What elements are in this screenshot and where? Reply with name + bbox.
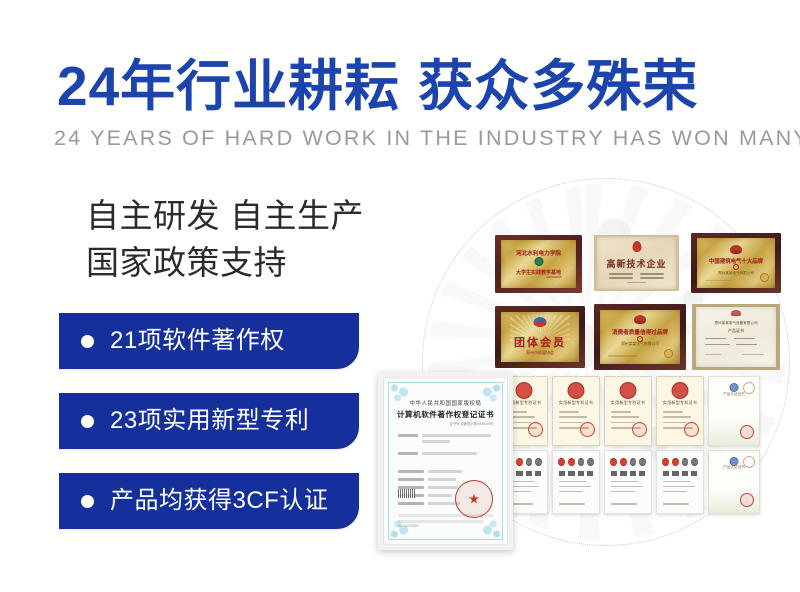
page-headline: 24年行业耕耘获众多殊荣 [57,55,757,117]
plaque-title: 产品证书 [696,328,777,334]
lead-line1-b: 自主生产 [230,197,364,234]
certificate-reg-no: 证书号 软著登字第0000000号 [450,421,493,426]
software-copyright-certificate: 中华人民共和国国家版权局 计算机软件著作权登记证书 证书号 软著登字第00000… [378,372,513,550]
plaque-title: 团体会员 [501,334,578,350]
certificate-collage: 河北水利电力学院 大学生实践教学基地 高新技术企业 中国建筑电 [362,178,800,578]
certificate-seal [455,480,493,518]
plaque-subtitle: 郑州市质量协会 [501,350,578,356]
highlight-bar[interactable]: 产品均获得3CF认证 [59,473,359,529]
bullet-dot-icon [81,335,94,348]
award-plaque: 中国建筑电气十大品牌 郑州某某电气有限公司 [691,233,781,293]
award-plaque: 高新技术企业 [594,235,679,291]
headline-part-1: 24年行业耕耘 [57,55,400,117]
product-certificate [552,450,600,514]
plaque-subtitle: 郑州某某电气有限公司 [600,342,679,347]
patent-certificate-label: 实用新型专利证书 [605,400,651,406]
award-plaque: 郑州某某电气设备有限公司 产品证书 [692,304,780,370]
bullet-dot-icon [81,495,94,508]
plaque-subtitle: 大学生实践教学基地 [501,269,576,276]
promo-page: 24年行业耕耘获众多殊荣 24 YEARS OF HARD WORK IN TH… [0,0,800,592]
patent-certificate: 实用新型专利证书 [656,376,704,446]
highlight-bar-label: 23项实用新型专利 [110,407,309,435]
award-plaque: 河北水利电力学院 大学生实践教学基地 [495,235,582,293]
highlight-bar[interactable]: 23项实用新型专利 [59,393,359,449]
highlight-bar[interactable]: 21项软件著作权 [59,313,359,369]
plaque-title: 高新技术企业 [597,257,677,270]
honor-certificate-label: 产品认证证书 [709,392,759,397]
lead-line1-a: 自主研发 [86,197,220,234]
award-plaque: 消费者质量信得过品牌 郑州某某电气有限公司 [594,304,686,370]
plaque-title: 河北水利电力学院 [501,249,576,257]
product-certificate [656,450,704,514]
patent-certificate-label: 实用新型专利证书 [657,400,703,406]
award-plaque: 团体会员 郑州市质量协会 [495,306,585,368]
highlight-bar-list: 21项软件著作权 23项实用新型专利 产品均获得3CF认证 [59,313,359,553]
certificate-serial: No. 01234567 [398,524,419,528]
honor-certificate: 产品认证证书 [708,376,760,446]
bullet-dot-icon [81,415,94,428]
highlight-bar-label: 21项软件著作权 [110,327,285,355]
plaque-subtitle: 郑州某某电气设备有限公司 [696,321,777,326]
product-certificate [604,450,652,514]
certificate-title: 计算机软件著作权登记证书 [384,409,507,420]
patent-certificate-label: 实用新型专利证书 [553,400,599,406]
headline-part-2: 获众多殊荣 [418,55,698,117]
certificate-authority: 中华人民共和国国家版权局 [384,399,507,407]
patent-certificate: 实用新型专利证书 [604,376,652,446]
honor-certificate: 产品认证证书 [708,450,760,514]
page-subheadline: 24 YEARS OF HARD WORK IN THE INDUSTRY HA… [54,125,774,151]
patent-certificate: 实用新型专利证书 [552,376,600,446]
honor-certificate-label: 产品认证证书 [709,465,759,470]
highlight-bar-label: 产品均获得3CF认证 [110,487,328,515]
